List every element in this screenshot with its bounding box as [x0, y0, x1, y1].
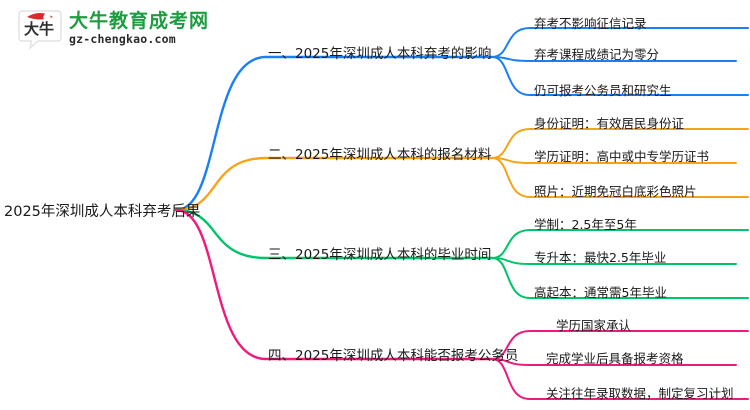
leaf-node-1-2[interactable]: 弃考课程成绩记为零分	[534, 44, 659, 63]
branch-node-4[interactable]: 四、2025年深圳成人本科能否报考公务员	[268, 344, 518, 364]
leaf-node-2-3[interactable]: 照片：近期免冠白底彩色照片	[534, 181, 697, 200]
mindmap-canvas: 大牛 大牛教育成考网 gz-chengkao.com 2025年深圳成人本科弃考…	[0, 0, 750, 410]
leaf-node-4-1[interactable]: 学历国家承认	[556, 315, 631, 334]
leaf-node-1-1[interactable]: 弃考不影响征信记录	[534, 13, 647, 32]
speech-bubble-logo-icon: 大牛	[18, 8, 62, 50]
leaf-node-3-3[interactable]: 高起本：通常需5年毕业	[534, 282, 667, 301]
svg-text:大牛: 大牛	[24, 20, 54, 38]
root-node[interactable]: 2025年深圳成人本科弃考后果	[4, 200, 200, 221]
leaf-node-2-2[interactable]: 学历证明：高中或中专学历证书	[534, 146, 709, 165]
site-logo: 大牛 大牛教育成考网 gz-chengkao.com	[18, 8, 209, 50]
leaf-node-4-2[interactable]: 完成学业后具备报考资格	[546, 348, 684, 367]
logo-text-block: 大牛教育成考网 gz-chengkao.com	[69, 12, 209, 46]
leaf-node-3-2[interactable]: 专升本：最快2.5年毕业	[534, 247, 666, 266]
leaf-node-1-3[interactable]: 仍可报考公务员和研究生	[534, 80, 672, 99]
branch-node-2[interactable]: 二、2025年深圳成人本科的报名材料	[268, 143, 491, 163]
branch-node-1[interactable]: 一、2025年深圳成人本科弃考的影响	[268, 42, 491, 62]
leaf-node-3-1[interactable]: 学制：2.5年至5年	[534, 214, 637, 233]
logo-subtitle: gz-chengkao.com	[69, 34, 209, 46]
leaf-node-2-1[interactable]: 身份证明：有效居民身份证	[534, 113, 684, 132]
logo-title: 大牛教育成考网	[69, 12, 209, 31]
leaf-node-4-3[interactable]: 关注往年录取数据，制定复习计划	[546, 383, 734, 402]
branch-node-3[interactable]: 三、2025年深圳成人本科的毕业时间	[268, 243, 491, 263]
